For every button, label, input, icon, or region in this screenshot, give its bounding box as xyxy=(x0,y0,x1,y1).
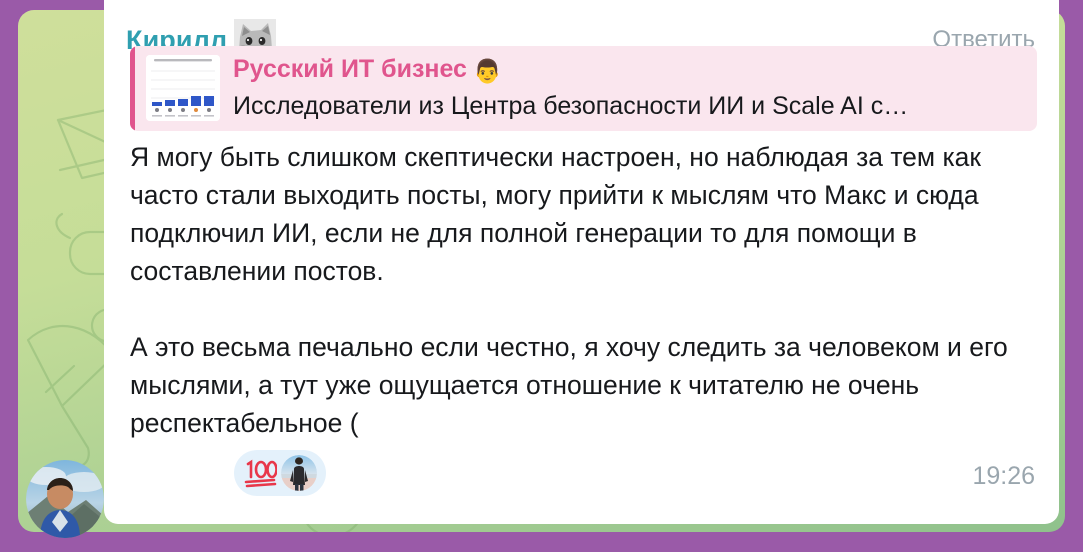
message-body: Я могу быть слишком скептически настроен… xyxy=(130,138,1039,442)
paragraph-spacer xyxy=(130,290,1039,328)
quote-accent-bar xyxy=(130,46,135,131)
quoted-message[interactable]: Русский ИТ бизнес👨 Исследователи из Цент… xyxy=(130,46,1037,131)
quote-text-column: Русский ИТ бизнес👨 Исследователи из Цент… xyxy=(233,46,1037,124)
reaction-badge[interactable] xyxy=(234,450,326,496)
hundred-points-emoji xyxy=(243,458,277,488)
reactor-avatar xyxy=(281,455,317,491)
man-emoji: 👨 xyxy=(473,58,502,84)
quote-channel-name: Русский ИТ бизнес xyxy=(233,55,467,83)
message-paragraph-2: А это весьма печально если честно, я хоч… xyxy=(130,328,1039,442)
telegram-screenshot: Кирилл Ответить xyxy=(0,0,1083,552)
quote-channel-title: Русский ИТ бизнес👨 xyxy=(233,52,1037,88)
avatar[interactable] xyxy=(26,460,104,538)
quote-preview-text: Исследователи из Центра безопасности ИИ … xyxy=(233,88,1037,124)
quote-thumbnail-chart xyxy=(146,55,220,121)
message-bubble: Кирилл Ответить xyxy=(104,0,1059,524)
message-timestamp: 19:26 xyxy=(972,462,1035,491)
message-paragraph-1: Я могу быть слишком скептически настроен… xyxy=(130,138,1039,290)
